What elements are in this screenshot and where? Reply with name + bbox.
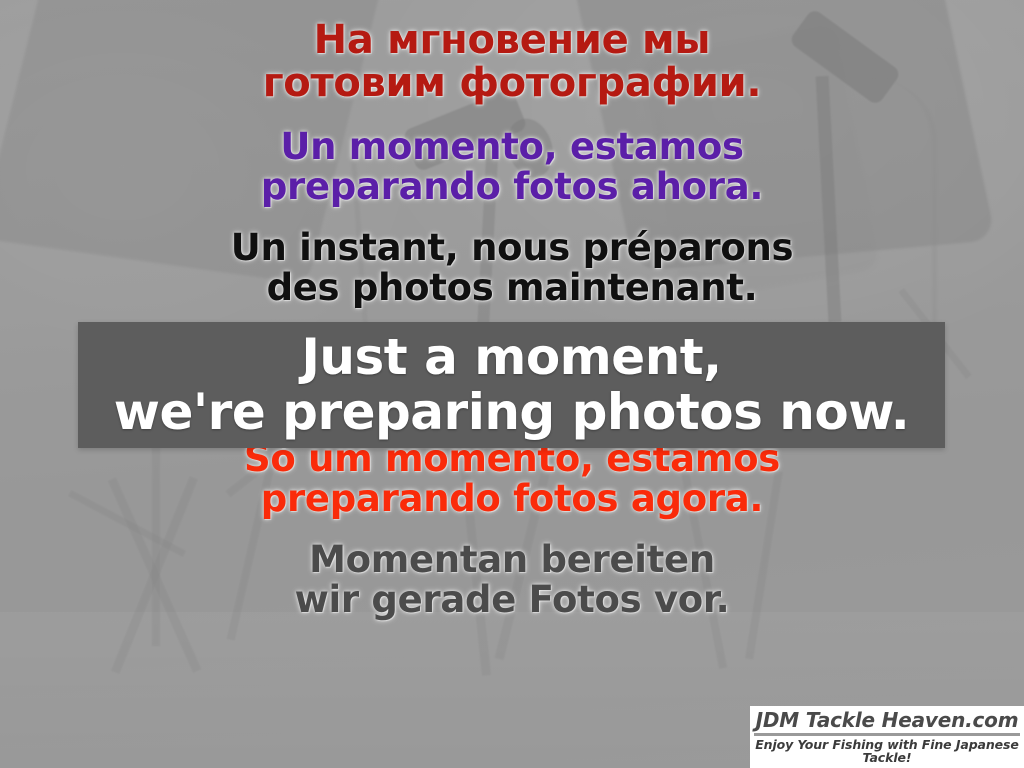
watermark-site-name: JDM Tackle Heaven.com: [750, 709, 1024, 731]
notice-german: Momentan bereiten wir gerade Fotos vor.: [0, 540, 1024, 620]
notice-spanish: Un momento, estamos preparando fotos aho…: [0, 127, 1024, 207]
site-watermark: JDM Tackle Heaven.com Enjoy Your Fishing…: [750, 706, 1024, 768]
placeholder-image-canvas: На мгновение мы готовим фотографии. Un m…: [0, 0, 1024, 768]
notice-portuguese: Só um momento, estamos preparando fotos …: [0, 439, 1024, 519]
watermark-tagline: Enjoy Your Fishing with Fine Japanese Ta…: [750, 738, 1024, 767]
notice-russian: На мгновение мы готовим фотографии.: [0, 19, 1024, 105]
notice-french: Un instant, nous préparons des photos ma…: [0, 228, 1024, 308]
primary-notice-banner: Just a moment, we're preparing photos no…: [78, 322, 945, 448]
notice-english: Just a moment, we're preparing photos no…: [78, 330, 945, 440]
watermark-divider: [754, 733, 1020, 736]
